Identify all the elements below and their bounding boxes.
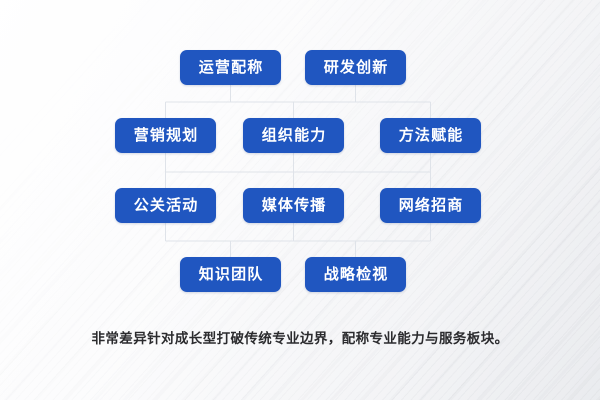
node-box[interactable]: 公关活动	[115, 188, 216, 223]
diagram-canvas: 运营配称 研发创新 营销规划 组织能力 方法赋能 公关活动 媒体传播 网络招商 …	[0, 0, 600, 400]
diagram-caption: 非常差异针对成长型打破传统专业边界，配称专业能力与服务板块。	[0, 330, 600, 349]
node-box[interactable]: 运营配称	[180, 50, 281, 85]
node-box[interactable]: 组织能力	[243, 118, 344, 153]
node-box[interactable]: 网络招商	[380, 188, 481, 223]
node-box[interactable]: 媒体传播	[243, 188, 344, 223]
node-box[interactable]: 知识团队	[180, 257, 281, 292]
node-box[interactable]: 战略检视	[305, 257, 406, 292]
node-box[interactable]: 方法赋能	[380, 118, 481, 153]
node-box[interactable]: 营销规划	[115, 118, 216, 153]
node-box[interactable]: 研发创新	[305, 50, 406, 85]
